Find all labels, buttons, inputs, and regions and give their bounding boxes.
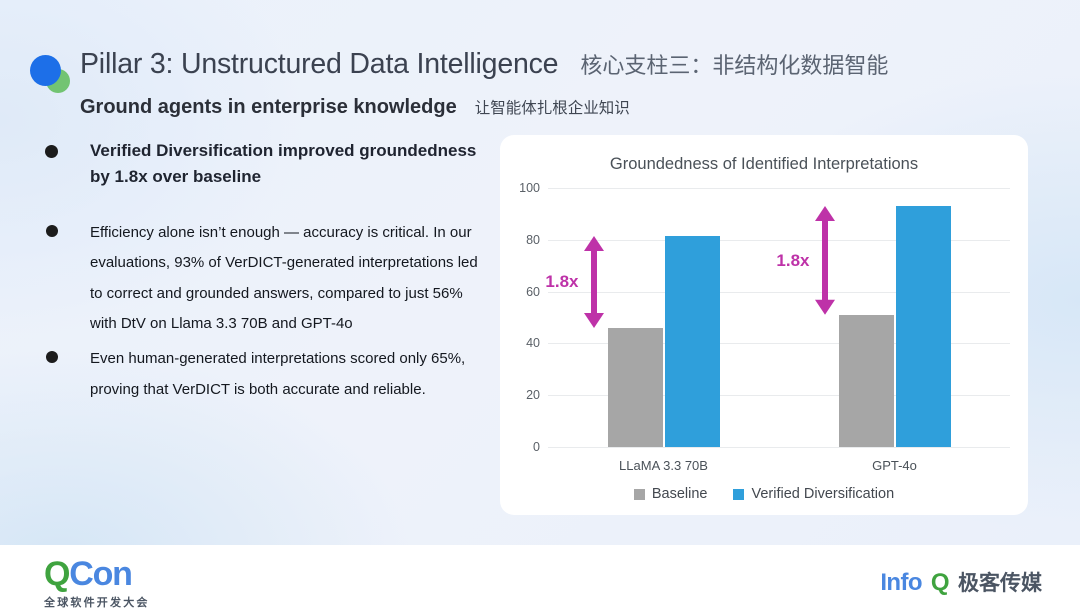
- chart-y-axis-tick: 80: [500, 233, 540, 247]
- chart-y-axis-tick: 0: [500, 440, 540, 454]
- chart-bar: [839, 315, 894, 447]
- chart-annotation-arrow-icon: [583, 236, 605, 328]
- infoq-logo-info: Info: [880, 569, 922, 597]
- title-row: Pillar 3: Unstructured Data Intelligence…: [80, 48, 888, 81]
- chart-bar: [608, 328, 663, 447]
- bullet-text: Even human-generated interpretations sco…: [90, 344, 485, 405]
- logo-blue-circle: [30, 55, 61, 86]
- page-title-zh: 核心支柱三：非结构化数据智能: [580, 48, 888, 80]
- chart-gridline: [548, 188, 1010, 189]
- chart-x-axis-label: LLaMA 3.3 70B: [619, 458, 708, 473]
- bullet-dot-icon: [45, 145, 58, 158]
- page-subtitle-zh: 让智能体扎根企业知识: [475, 96, 630, 118]
- bullet-text: Verified Diversification improved ground…: [90, 138, 485, 190]
- qcon-logo-q: Q: [44, 555, 69, 593]
- chart-card: Groundedness of Identified Interpretatio…: [500, 135, 1028, 515]
- chart-y-axis-tick: 60: [500, 285, 540, 299]
- list-item: Verified Diversification improved ground…: [40, 138, 485, 190]
- page-title-en: Pillar 3: Unstructured Data Intelligence: [80, 48, 558, 81]
- chart-y-axis-tick: 40: [500, 336, 540, 350]
- chart-legend-swatch: [733, 489, 744, 500]
- chart-annotation-label: 1.8x: [776, 251, 809, 271]
- qcon-wordmark: QCon: [44, 557, 150, 591]
- subtitle-row: Ground agents in enterprise knowledge 让智…: [80, 96, 630, 119]
- chart-annotation-arrow-icon: [814, 206, 836, 315]
- chart-x-axis-label: GPT-4o: [872, 458, 917, 473]
- list-item: Efficiency alone isn’t enough — accuracy…: [40, 218, 485, 340]
- bullet-list: Verified Diversification improved ground…: [40, 138, 485, 410]
- chart-legend: BaselineVerified Diversification: [500, 486, 1028, 502]
- chart-bar: [896, 206, 951, 447]
- chart-bar: [665, 236, 720, 447]
- bullet-text: Efficiency alone isn’t enough — accuracy…: [90, 218, 485, 340]
- chart-legend-swatch: [634, 489, 645, 500]
- slide-canvas: Pillar 3: Unstructured Data Intelligence…: [0, 0, 1080, 610]
- chart-y-axis-tick: 100: [500, 181, 540, 195]
- chart-plot-area: 020406080100LLaMA 3.3 70BGPT-4o1.8x1.8x: [500, 135, 1028, 515]
- chart-y-axis-tick: 20: [500, 388, 540, 402]
- blue-green-dots-logo-icon: [28, 55, 70, 95]
- bullet-dot-icon: [46, 225, 58, 237]
- infoq-logo: InfoQ 极客传媒: [880, 567, 1042, 597]
- chart-legend-item[interactable]: Baseline: [634, 486, 708, 502]
- chart-legend-label: Verified Diversification: [751, 486, 894, 502]
- bullet-dot-icon: [46, 351, 58, 363]
- chart-annotation-label: 1.8x: [545, 272, 578, 292]
- list-item: Even human-generated interpretations sco…: [40, 344, 485, 405]
- chart-legend-label: Baseline: [652, 486, 708, 502]
- slide-footer: QCon 全球软件开发大会 InfoQ 极客传媒: [0, 545, 1080, 610]
- chart-legend-item[interactable]: Verified Diversification: [733, 486, 894, 502]
- qcon-logo: QCon 全球软件开发大会: [44, 557, 150, 610]
- qcon-logo-con: Con: [69, 555, 132, 593]
- infoq-logo-cn: 极客传媒: [958, 567, 1042, 597]
- slide-header: Pillar 3: Unstructured Data Intelligence…: [0, 22, 1080, 117]
- page-subtitle-en: Ground agents in enterprise knowledge: [80, 96, 457, 119]
- chart-gridline: [548, 447, 1010, 448]
- infoq-logo-q: Q: [931, 569, 949, 597]
- qcon-tagline: 全球软件开发大会: [44, 594, 150, 610]
